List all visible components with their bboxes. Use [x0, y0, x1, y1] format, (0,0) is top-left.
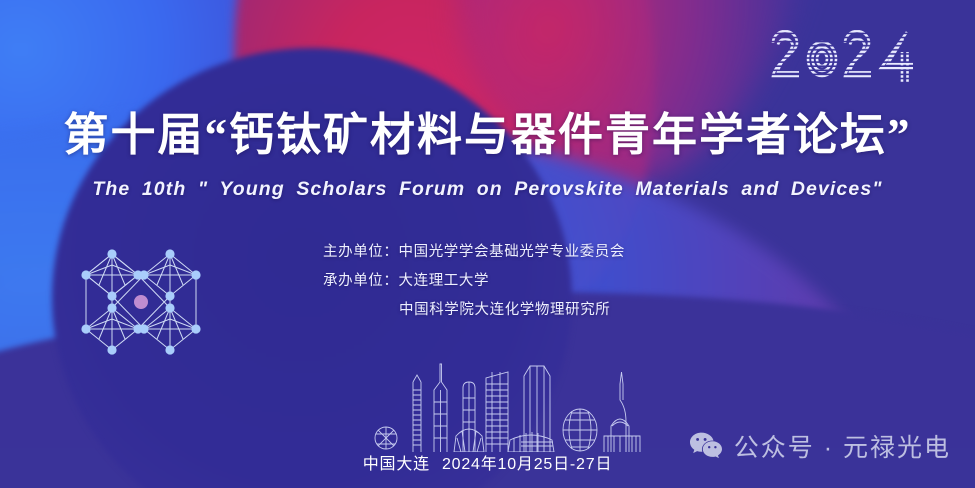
organizer-label-host: 主办单位：	[323, 244, 399, 260]
poster-title-english: The 10th " Young Scholars Forum on Perov…	[0, 178, 975, 201]
conference-poster: 第十届“钙钛矿材料与器件青年学者论坛” The 10th " Young Sch…	[0, 0, 975, 488]
organizer-value-host: 中国光学学会基础光学专业委员会	[399, 244, 626, 260]
poster-title-chinese: 第十届“钙钛矿材料与器件青年学者论坛”	[0, 113, 975, 158]
organizer-label-cohost: 承办单位：	[323, 273, 399, 289]
location-text: 中国大连	[363, 456, 430, 473]
year-2024-mark	[769, 26, 917, 88]
date-text: 2024年10月25日-27日	[442, 456, 612, 473]
wechat-watermark: 公众号 · 元禄光电	[689, 428, 951, 464]
wechat-icon	[689, 431, 723, 461]
organizer-value-cohost: 大连理工大学	[399, 273, 490, 289]
dalian-skyline-graphic	[368, 360, 653, 452]
organizer-value-cohost-second: 中国科学院大连化学物理研究所	[399, 302, 610, 318]
organizer-row-cohost-second: 中国科学院大连化学物理研究所	[323, 296, 625, 325]
organizer-block: 主办单位：中国光学学会基础光学专业委员会 承办单位：大连理工大学 中国科学院大连…	[323, 238, 625, 325]
wechat-account-text: 公众号 · 元禄光电	[734, 428, 951, 464]
organizer-row-cohost: 承办单位：大连理工大学	[323, 267, 625, 296]
organizer-row-host: 主办单位：中国光学学会基础光学专业委员会	[323, 238, 625, 267]
perovskite-lattice-icon	[78, 248, 204, 364]
